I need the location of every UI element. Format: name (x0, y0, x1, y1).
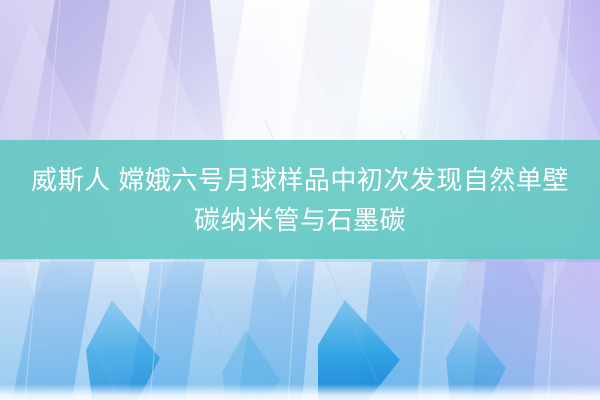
title-block: 威斯人 嫦娥六号月球样品中初次发现自然单壁 碳纳米管与石墨碳 (0, 140, 600, 259)
banner-image: 威斯人 嫦娥六号月球样品中初次发现自然单壁 碳纳米管与石墨碳 (0, 0, 600, 400)
title-line-2: 碳纳米管与石墨碳 (194, 200, 406, 240)
title-line-1: 威斯人 嫦娥六号月球样品中初次发现自然单壁 (31, 160, 569, 200)
